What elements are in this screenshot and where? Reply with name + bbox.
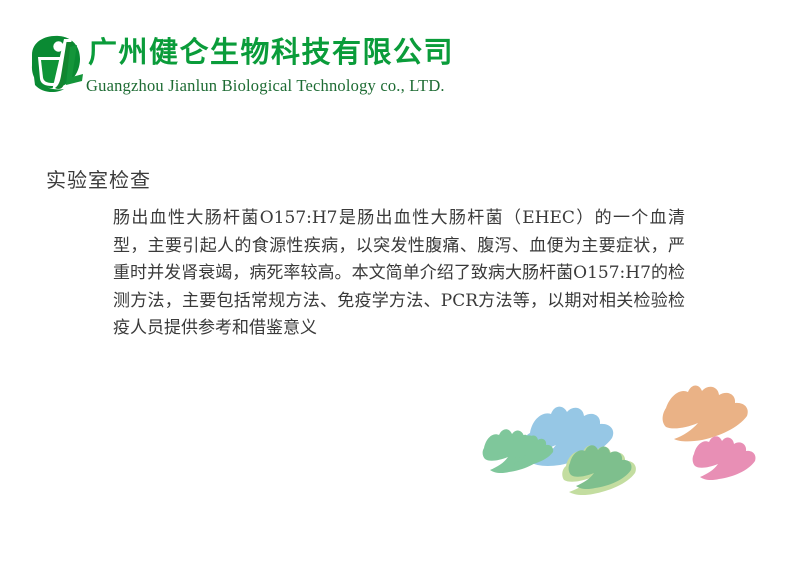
leaf-orange-large-icon (663, 385, 748, 441)
company-name-english: Guangzhou Jianlun Biological Technology … (86, 76, 445, 96)
jianlun-jl-monogram-logo-icon (26, 33, 88, 95)
ginkgo-leaf-cluster-icon (470, 378, 780, 503)
leaf-green-left-icon (483, 429, 546, 473)
leaf-green-medium-icon (569, 445, 632, 489)
leaf-green-small-icon (508, 435, 554, 466)
slide-canvas: 广州健仑生物科技有限公司 Guangzhou Jianlun Biologica… (0, 0, 800, 565)
section-title: 实验室检查 (46, 164, 151, 193)
leaf-lightgreen-center-icon (562, 445, 636, 495)
body-paragraph: 肠出血性大肠杆菌O157:H7是肠出血性大肠杆菌（EHEC）的一个血清型，主要引… (113, 205, 685, 343)
leaf-blue-large-icon (523, 407, 613, 466)
leaf-pink-right-icon (693, 436, 756, 480)
company-name-chinese: 广州健仑生物科技有限公司 (88, 32, 454, 72)
company-logo-lockup: 广州健仑生物科技有限公司 Guangzhou Jianlun Biologica… (26, 33, 476, 105)
